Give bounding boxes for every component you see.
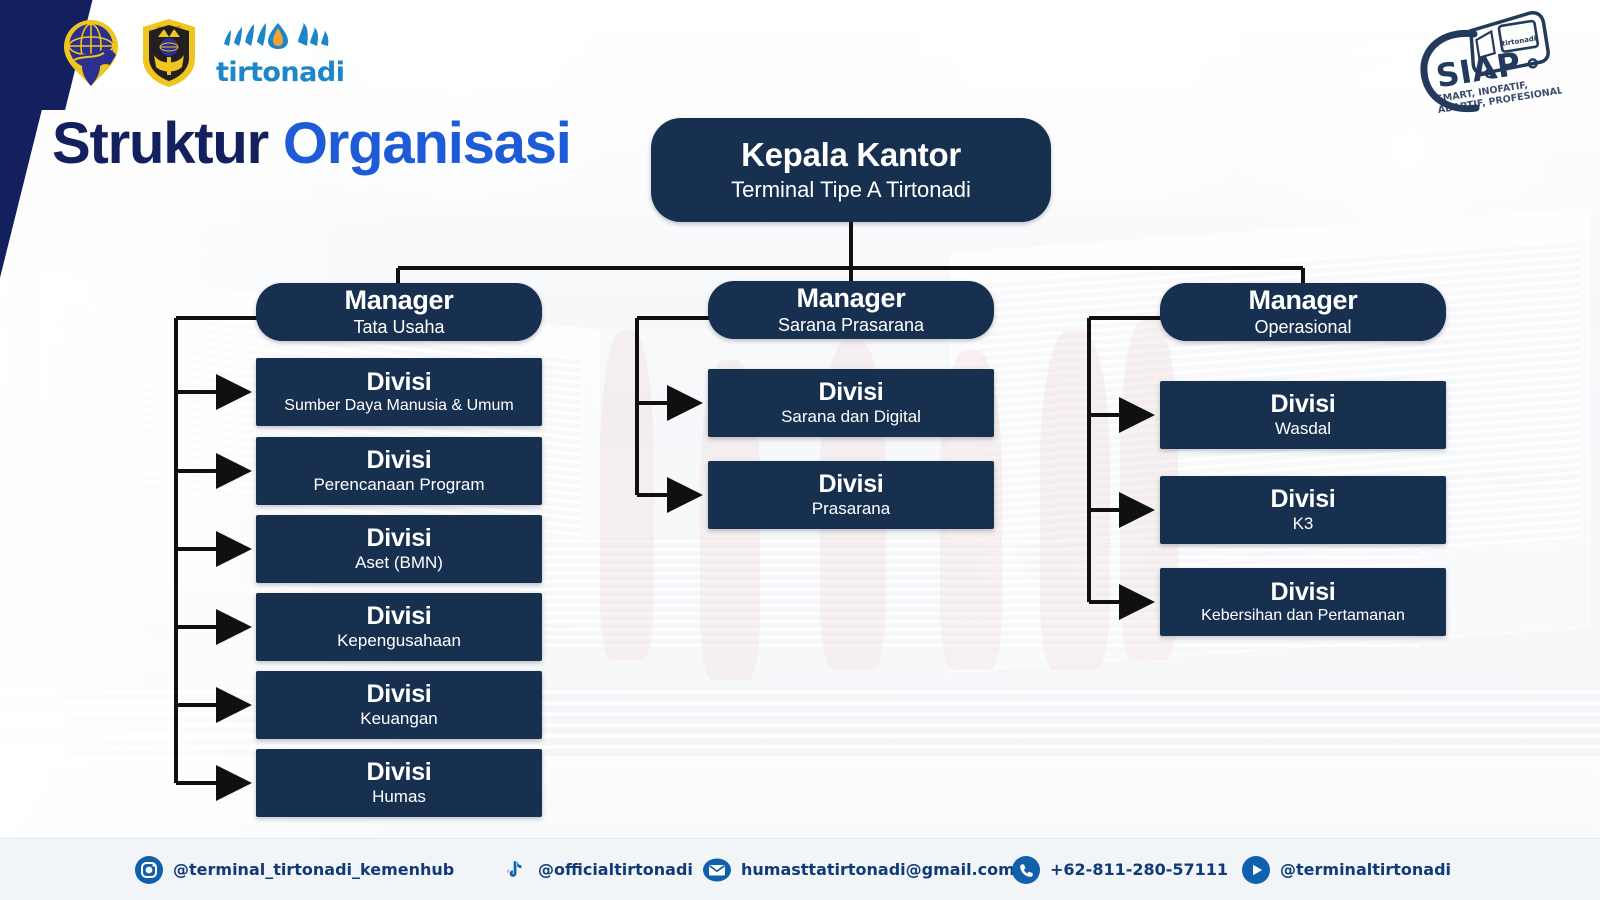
node-subtitle: Humas [372,788,426,806]
footer-item-email[interactable]: humasttatirtonadi@gmail.com [703,856,1015,884]
email-icon [703,856,731,884]
footer-item-youtube[interactable]: @terminaltirtonadi [1242,856,1451,884]
node-subtitle: Aset (BMN) [355,554,443,572]
node-subtitle: Kepengusahaan [337,632,461,650]
footer-item-phone[interactable]: +62-811-280-57111 [1012,856,1228,884]
node-subtitle: Operasional [1254,318,1351,337]
youtube-icon [1242,856,1270,884]
node-divisi-k3[interactable]: Divisi K3 [1160,476,1446,544]
node-title: Divisi [1271,487,1336,512]
node-divisi-humas[interactable]: Divisi Humas [256,749,542,817]
node-subtitle: Sarana Prasarana [778,316,924,335]
node-subtitle: Terminal Tipe A Tirtonadi [731,178,971,201]
node-manager-operasional[interactable]: Manager Operasional [1160,283,1446,341]
node-divisi-kepengusahaan[interactable]: Divisi Kepengusahaan [256,593,542,661]
footer-item-label: @terminal_tirtonadi_kemenhub [173,860,454,879]
node-subtitle: Kebersihan dan Pertamanan [1201,608,1405,625]
instagram-icon [135,856,163,884]
footer-item-instagram[interactable]: @terminal_tirtonadi_kemenhub [135,856,454,884]
node-title: Divisi [819,380,884,405]
node-subtitle: Prasarana [812,500,890,518]
node-divisi-keuangan[interactable]: Divisi Keuangan [256,671,542,739]
node-title: Divisi [367,448,432,473]
tiktok-icon [500,856,528,884]
node-subtitle: Tata Usaha [353,318,444,337]
node-title: Divisi [1271,392,1336,417]
node-title: Divisi [367,760,432,785]
node-divisi-sarana-dan-digital[interactable]: Divisi Sarana dan Digital [708,369,994,437]
footer-item-label: @terminaltirtonadi [1280,860,1451,879]
node-kepala-kantor[interactable]: Kepala Kantor Terminal Tipe A Tirtonadi [651,118,1051,222]
node-title: Divisi [367,604,432,629]
node-manager-tata-usaha[interactable]: Manager Tata Usaha [256,283,542,341]
footer-item-label: humasttatirtonadi@gmail.com [741,860,1015,879]
node-title: Manager [1249,287,1358,314]
phone-icon [1012,856,1040,884]
node-subtitle: Wasdal [1275,420,1331,438]
node-title: Manager [797,285,906,312]
node-divisi-perencanaan-program[interactable]: Divisi Perencanaan Program [256,437,542,505]
node-subtitle: Sarana dan Digital [781,408,921,426]
node-subtitle: Keuangan [360,710,438,728]
footer-item-tiktok[interactable]: @officialtirtonadi [500,856,693,884]
org-chart: Kepala Kantor Terminal Tipe A Tirtonadi … [0,0,1600,900]
node-subtitle: Sumber Daya Manusia & Umum [284,398,513,415]
node-divisi-kebersihan-dan-pertamanan[interactable]: Divisi Kebersihan dan Pertamanan [1160,568,1446,636]
footer-contact-bar: @terminal_tirtonadi_kemenhub @officialti… [0,838,1600,900]
node-manager-sarana-prasarana[interactable]: Manager Sarana Prasarana [708,281,994,339]
footer-item-label: @officialtirtonadi [538,860,693,879]
footer-item-label: +62-811-280-57111 [1050,860,1228,879]
node-title: Divisi [1271,580,1336,605]
node-subtitle: K3 [1293,515,1314,533]
node-title: Divisi [367,526,432,551]
node-divisi-prasarana[interactable]: Divisi Prasarana [708,461,994,529]
node-subtitle: Perencanaan Program [313,476,484,494]
node-title: Divisi [367,370,432,395]
node-title: Manager [345,287,454,314]
node-title: Kepala Kantor [741,138,961,171]
node-divisi-sumber-daya-manusia-umum[interactable]: Divisi Sumber Daya Manusia & Umum [256,358,542,426]
node-divisi-aset-bmn[interactable]: Divisi Aset (BMN) [256,515,542,583]
node-title: Divisi [819,472,884,497]
node-title: Divisi [367,682,432,707]
node-divisi-wasdal[interactable]: Divisi Wasdal [1160,381,1446,449]
